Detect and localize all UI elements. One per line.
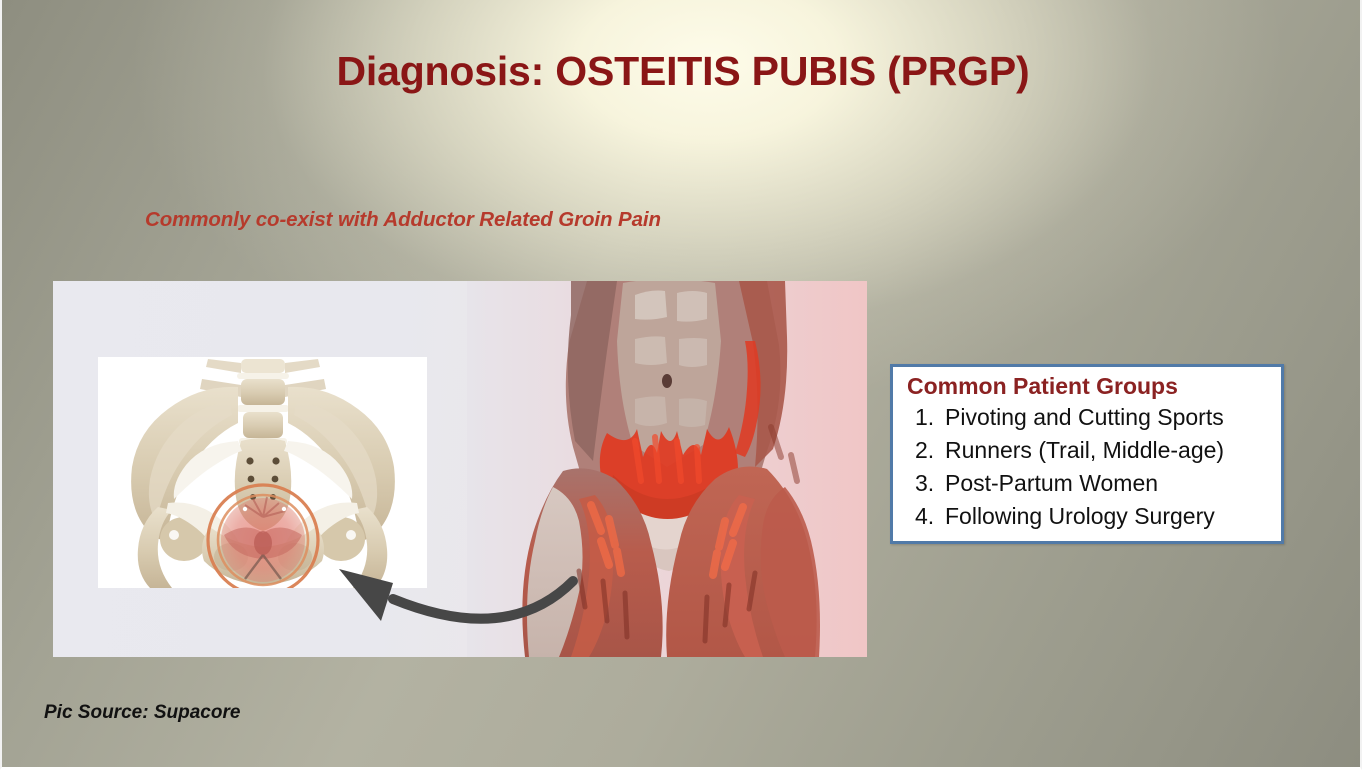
list-item-number: 3. bbox=[907, 467, 945, 500]
list-item-number: 4. bbox=[907, 500, 945, 533]
figure-panel bbox=[53, 281, 867, 657]
list-item: 3. Post-Partum Women bbox=[907, 467, 1281, 500]
list-item-label: Post-Partum Women bbox=[945, 467, 1281, 500]
list-item: 1. Pivoting and Cutting Sports bbox=[907, 401, 1281, 434]
list-item-label: Pivoting and Cutting Sports bbox=[945, 401, 1281, 434]
list-item: 4. Following Urology Surgery bbox=[907, 500, 1281, 533]
info-box-heading: Common Patient Groups bbox=[907, 373, 1281, 400]
list-item: 2. Runners (Trail, Middle-age) bbox=[907, 434, 1281, 467]
page-title: Diagnosis: OSTEITIS PUBIS (PRGP) bbox=[2, 48, 1362, 95]
pic-source-credit: Pic Source: Supacore bbox=[44, 702, 240, 724]
list-item-number: 2. bbox=[907, 434, 945, 467]
subtitle-text: Commonly co-exist with Adductor Related … bbox=[145, 208, 661, 232]
list-item-label: Following Urology Surgery bbox=[945, 500, 1281, 533]
pelvis-skeleton-photo bbox=[98, 357, 427, 588]
common-patient-groups-box: Common Patient Groups 1. Pivoting and Cu… bbox=[890, 364, 1284, 544]
slide-canvas: Diagnosis: OSTEITIS PUBIS (PRGP) Commonl… bbox=[0, 0, 1362, 770]
list-item-label: Runners (Trail, Middle-age) bbox=[945, 434, 1281, 467]
list-item-number: 1. bbox=[907, 401, 945, 434]
groin-adductor-muscle-illustration bbox=[467, 281, 867, 657]
patient-groups-list: 1. Pivoting and Cutting Sports 2. Runner… bbox=[907, 401, 1281, 533]
